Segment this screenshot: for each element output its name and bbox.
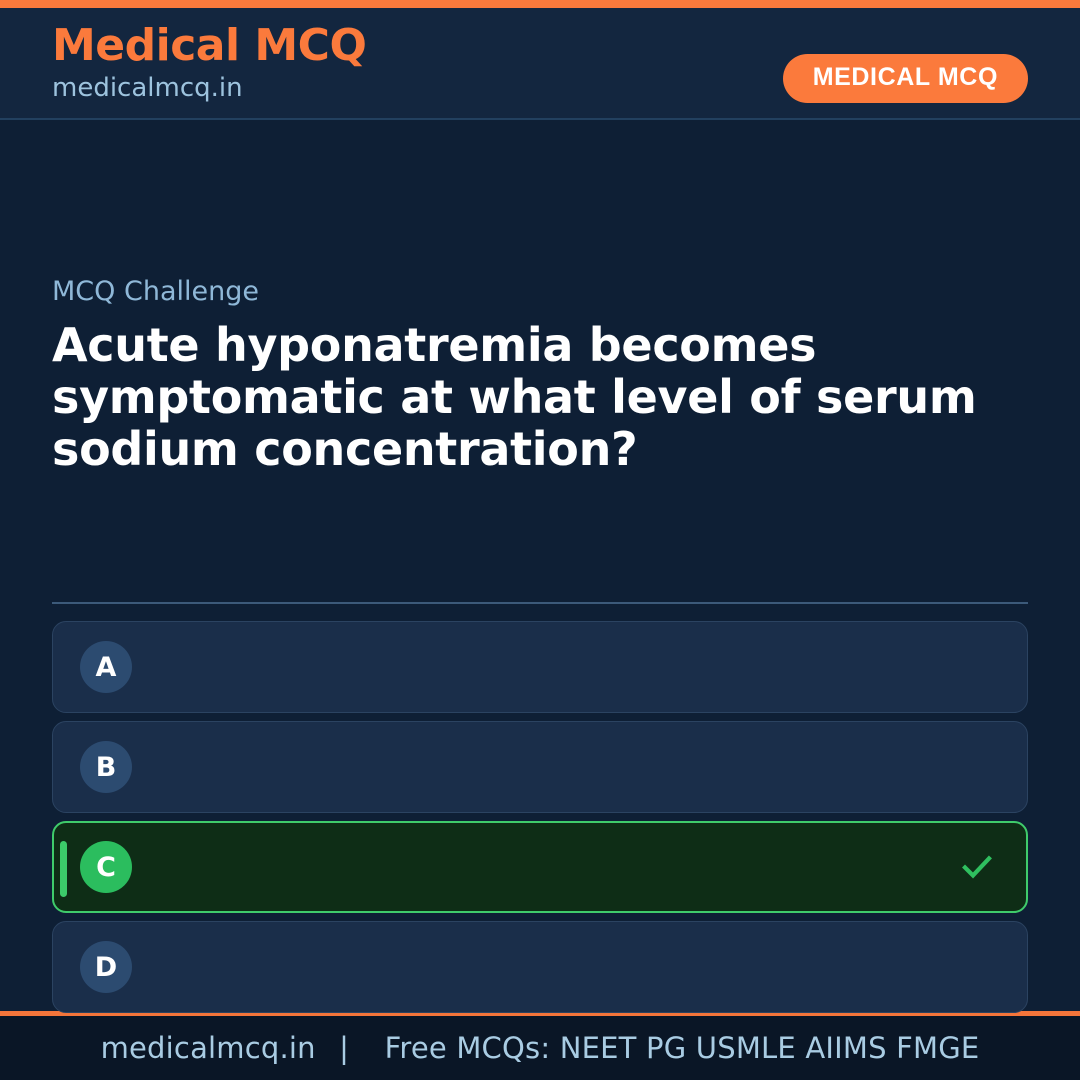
top-accent-bar — [0, 0, 1080, 8]
brand-title: Medical MCQ — [52, 20, 366, 72]
footer-site: medicalmcq.in — [101, 1031, 316, 1065]
question-block: MCQ Challenge Acute hyponatremia becomes… — [52, 275, 1028, 475]
options-list: A B C D — [52, 621, 1028, 1021]
mcq-slide: Medical MCQ medicalmcq.in MEDICAL MCQ MC… — [0, 0, 1080, 1080]
question-text: Acute hyponatremia becomes symptomatic a… — [52, 319, 1028, 475]
footer: medicalmcq.in | Free MCQs: NEET PG USMLE… — [0, 1016, 1080, 1080]
option-a[interactable]: A — [52, 621, 1028, 713]
header-badge: MEDICAL MCQ — [783, 54, 1028, 103]
option-d-badge: D — [80, 941, 132, 993]
option-d[interactable]: D — [52, 921, 1028, 1013]
footer-separator: | — [325, 1031, 363, 1065]
main-content: MCQ Challenge Acute hyponatremia becomes… — [0, 120, 1080, 1011]
correct-check-icon — [960, 850, 994, 884]
question-divider — [52, 602, 1028, 604]
brand-subtitle: medicalmcq.in — [52, 72, 366, 104]
footer-exams: Free MCQs: NEET PG USMLE AIIMS FMGE — [373, 1031, 980, 1065]
header: Medical MCQ medicalmcq.in MEDICAL MCQ — [0, 8, 1080, 120]
option-b[interactable]: B — [52, 721, 1028, 813]
footer-text: medicalmcq.in | Free MCQs: NEET PG USMLE… — [101, 1031, 980, 1065]
option-b-badge: B — [80, 741, 132, 793]
brand: Medical MCQ medicalmcq.in — [52, 20, 366, 104]
option-a-badge: A — [80, 641, 132, 693]
correct-accent-bar — [60, 841, 67, 897]
option-c-badge: C — [80, 841, 132, 893]
question-eyebrow: MCQ Challenge — [52, 275, 1028, 309]
option-c[interactable]: C — [52, 821, 1028, 913]
